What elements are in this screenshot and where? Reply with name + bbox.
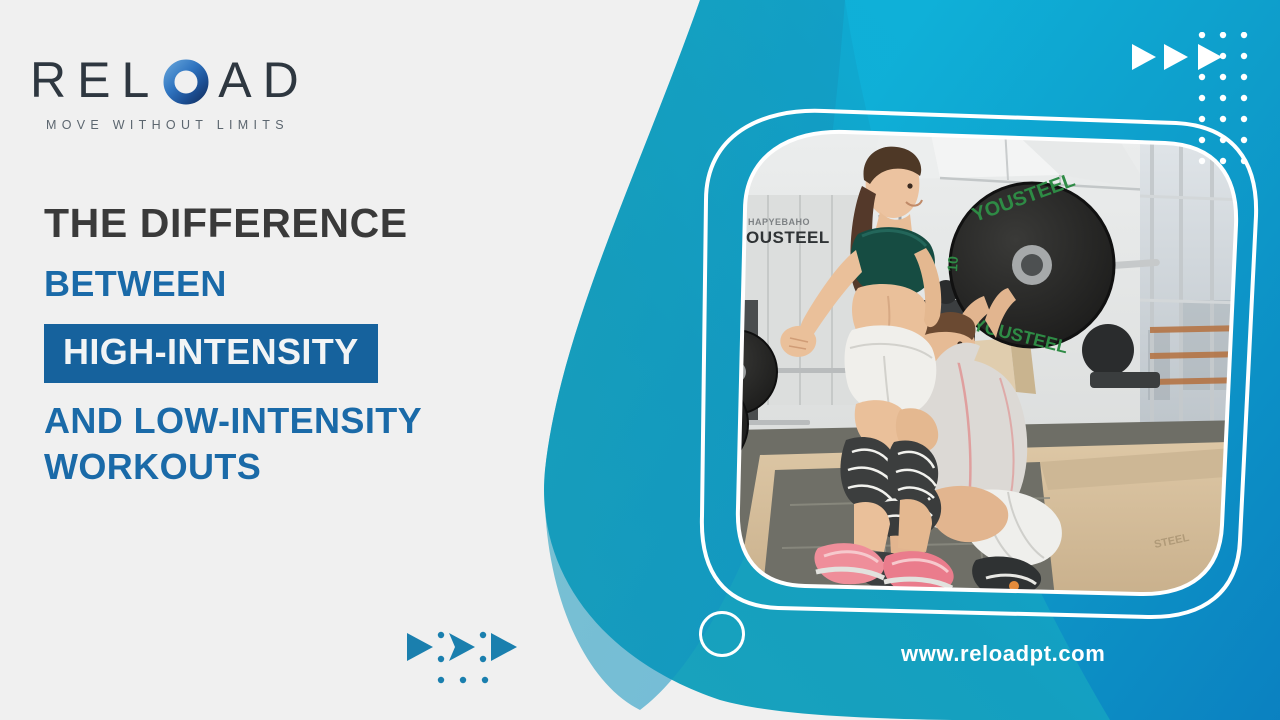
circle-outline-accent — [699, 611, 745, 657]
headline-line-5: WORKOUTS — [44, 449, 564, 485]
play-arrow-dot-grid — [1130, 32, 1260, 177]
logo-wordmark: REL AD — [30, 52, 310, 108]
headline-line-1: THE DIFFERENCE — [44, 203, 564, 244]
svg-text:OUSTEEL: OUSTEEL — [746, 228, 830, 247]
logo-ring-icon — [163, 59, 209, 105]
logo-tagline: MOVE WITHOUT LIMITS — [46, 118, 310, 132]
logo-text-suffix: AD — [218, 55, 309, 105]
svg-text:YOUSTEEL: YOUSTEEL — [698, 295, 737, 353]
play-arrow-dot-cluster — [403, 623, 523, 690]
svg-text:HAPYEBAHO: HAPYEBAHO — [748, 217, 810, 227]
promotional-banner: HAPYEBAHO OUSTEEL — [0, 0, 1280, 720]
headline-block: THE DIFFERENCE BETWEEN HIGH-INTENSITY AN… — [44, 203, 564, 485]
headline-highlight-wrap: HIGH-INTENSITY — [44, 324, 564, 383]
website-url[interactable]: www.reloadpt.com — [901, 641, 1105, 667]
svg-text:YOUSTEEL: YOUSTEEL — [657, 341, 703, 403]
headline-highlighted-term: HIGH-INTENSITY — [44, 324, 378, 383]
svg-text:15: 15 — [722, 398, 734, 409]
logo-text-prefix: REL — [30, 55, 160, 105]
brand-logo[interactable]: REL AD MOVE WITHOUT LIMITS — [30, 52, 310, 132]
headline-line-2: BETWEEN — [44, 266, 564, 302]
headline-line-4: AND LOW-INTENSITY — [44, 403, 564, 439]
svg-text:10: 10 — [944, 255, 961, 272]
